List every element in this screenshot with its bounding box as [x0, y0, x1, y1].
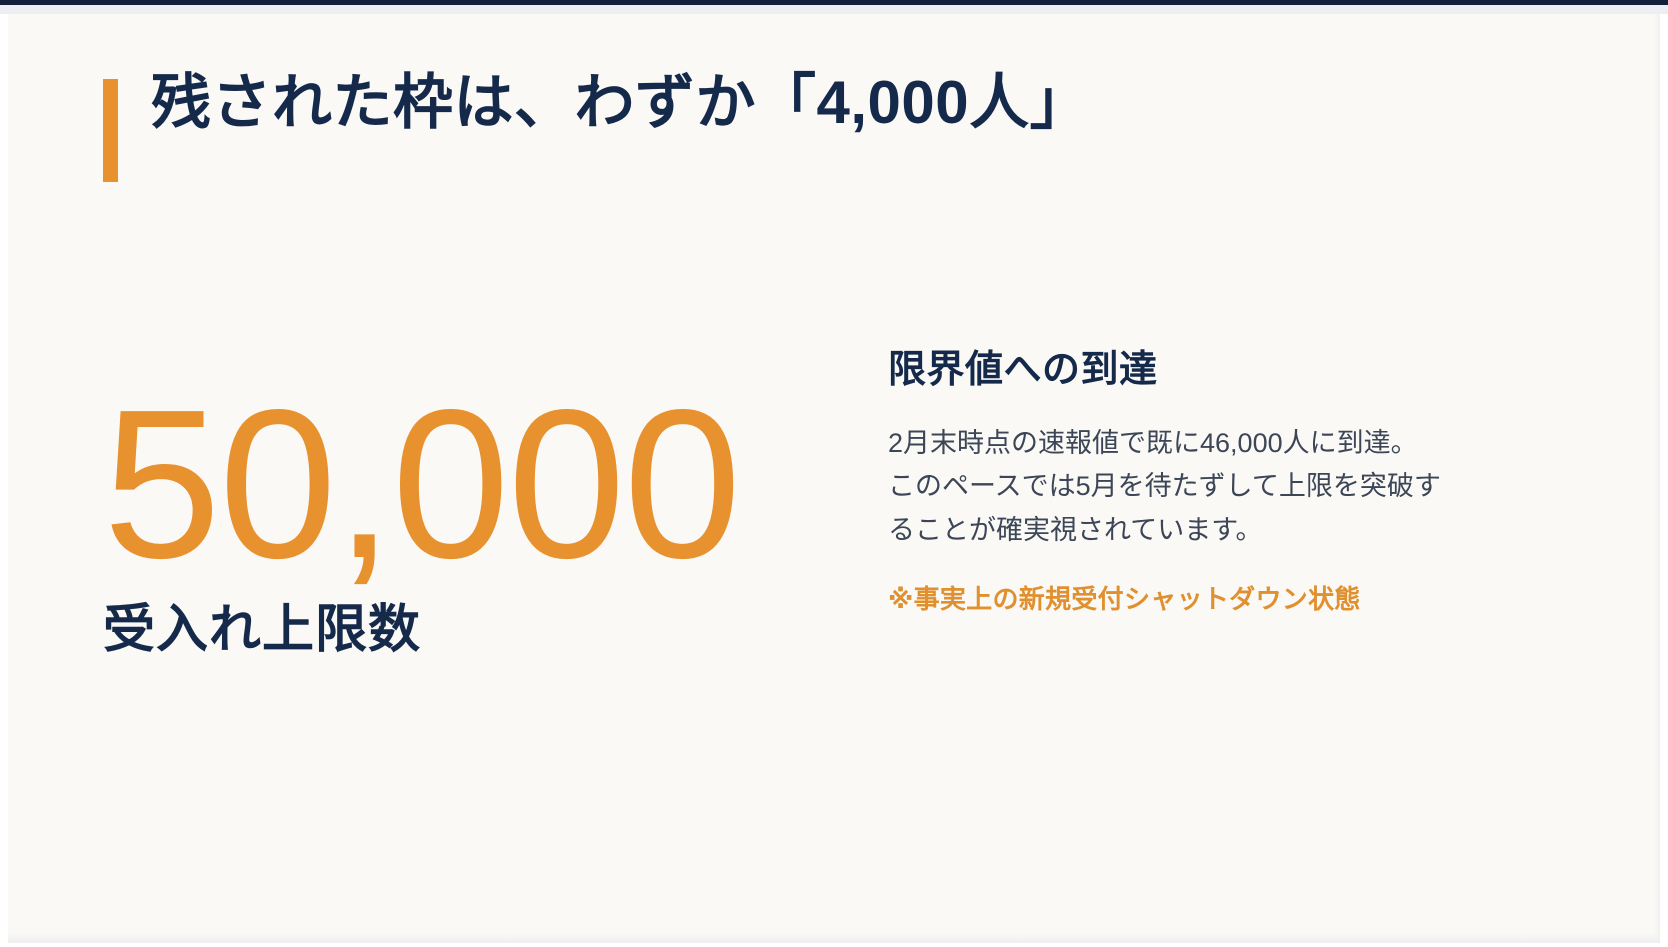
stat-value: 50,000 [103, 386, 843, 581]
detail-body: 2月末時点の速報値で既に46,000人に到達。 このペースでは5月を待たずして上… [888, 422, 1458, 553]
slide-edge-shading-right [1654, 14, 1660, 943]
content-columns: 50,000 受入れ上限数 限界値への到達 2月末時点の速報値で既に46,000… [8, 334, 1660, 754]
top-gutter-band [0, 5, 1668, 14]
stat-block: 50,000 受入れ上限数 [103, 386, 843, 662]
detail-block: 限界値への到達 2月末時点の速報値で既に46,000人に到達。 このペースでは5… [888, 348, 1488, 616]
detail-paragraph-2: このペースでは5月を待たずして上限を突破することが確実視されています。 [888, 465, 1458, 552]
accent-bar [103, 79, 118, 182]
slide-edge-shading-bottom [8, 933, 1660, 943]
detail-paragraph-1: 2月末時点の速報値で既に46,000人に到達。 [888, 422, 1458, 466]
page-title: 残された枠は、わずか「4,000人」 [151, 68, 1090, 139]
slide-viewport: 残された枠は、わずか「4,000人」 50,000 受入れ上限数 限界値への到達… [0, 0, 1668, 947]
detail-note: ※事実上の新規受付シャットダウン状態 [888, 579, 1488, 616]
detail-heading: 限界値への到達 [888, 348, 1488, 394]
presentation-slide: 残された枠は、わずか「4,000人」 50,000 受入れ上限数 限界値への到達… [8, 14, 1660, 943]
headline-row: 残された枠は、わずか「4,000人」 [103, 68, 1090, 182]
